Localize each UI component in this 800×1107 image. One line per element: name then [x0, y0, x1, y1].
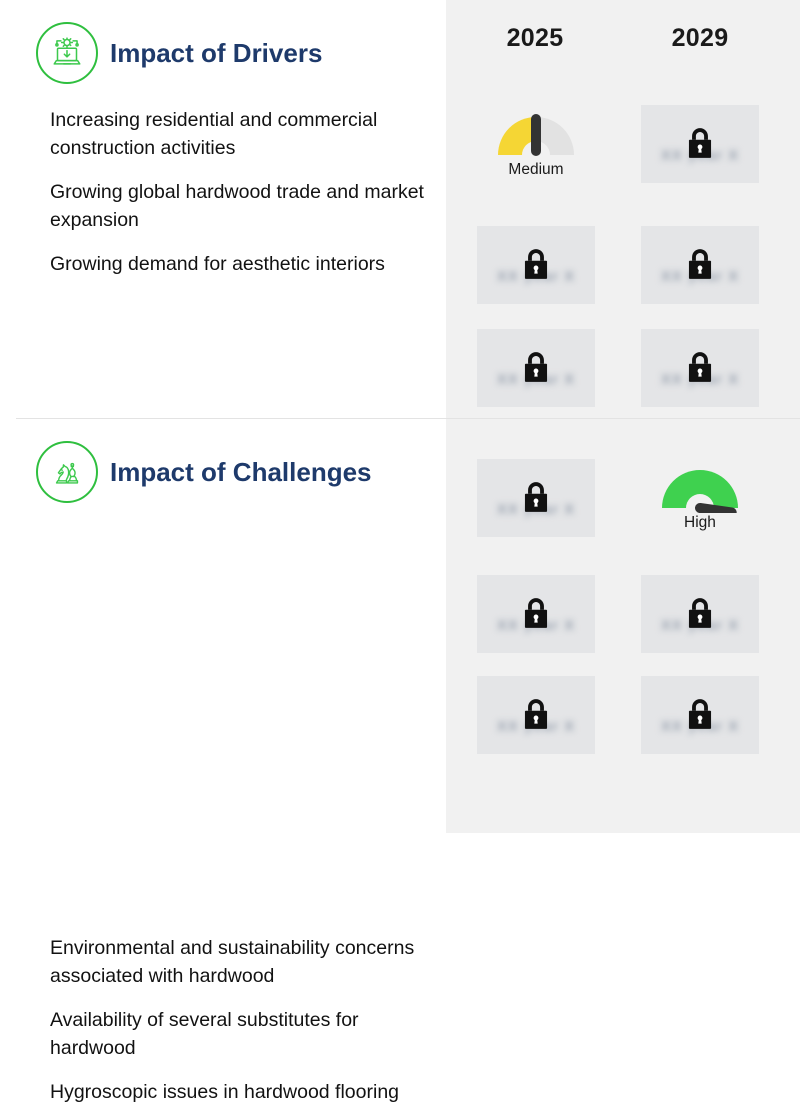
locked-cell-challenges-3-2025[interactable]: XX year X: [477, 676, 595, 754]
driver-item-2: Growing global hardwood trade and market…: [50, 179, 425, 234]
driver-item-1: Increasing residential and commercial co…: [50, 107, 425, 162]
drivers-bullet-list: Increasing residential and commercial co…: [50, 107, 425, 279]
lock-icon: [519, 595, 553, 631]
column-header-2029: 2029: [641, 24, 759, 53]
lock-icon: [519, 696, 553, 732]
lock-icon: [683, 125, 717, 161]
section-challenges: Impact of Challenges Environmental and s…: [0, 419, 446, 833]
lock-icon: [519, 349, 553, 385]
gauge-icon: [658, 461, 742, 513]
locked-cell-drivers-2-2025[interactable]: XX year X: [477, 226, 595, 304]
section-title-challenges: Impact of Challenges: [110, 457, 372, 488]
challenges-bullet-list: Environmental and sustainability concern…: [50, 935, 425, 1107]
challenges-header: Impact of Challenges: [36, 441, 372, 503]
gauge-label-high: High: [684, 514, 716, 532]
locked-cell-challenges-1-2025[interactable]: XX year X: [477, 459, 595, 537]
locked-cell-drivers-2-2029[interactable]: XX year X: [641, 226, 759, 304]
gauge-challenges-1-2029[interactable]: High: [641, 461, 759, 553]
section-drivers: Impact of Drivers Increasing residential…: [0, 0, 446, 418]
gauge-drivers-1-2025[interactable]: Medium: [477, 108, 595, 200]
laptop-gear-download-icon: [36, 22, 98, 84]
locked-cell-drivers-3-2025[interactable]: XX year X: [477, 329, 595, 407]
locked-cell-challenges-2-2029[interactable]: XX year X: [641, 575, 759, 653]
impact-matrix-page: 2025 2029: [0, 0, 800, 833]
locked-cell-challenges-3-2029[interactable]: XX year X: [641, 676, 759, 754]
gauge-icon: [494, 108, 578, 160]
lock-icon: [683, 595, 717, 631]
lock-icon: [519, 246, 553, 282]
lock-icon: [683, 696, 717, 732]
lock-icon: [519, 479, 553, 515]
driver-item-3: Growing demand for aesthetic interiors: [50, 251, 425, 279]
locked-cell-drivers-3-2029[interactable]: XX year X: [641, 329, 759, 407]
challenge-item-1: Environmental and sustainability concern…: [50, 935, 425, 990]
column-header-2025: 2025: [476, 24, 594, 53]
lock-icon: [683, 246, 717, 282]
lock-icon: [683, 349, 717, 385]
challenge-item-3: Hygroscopic issues in hardwood flooring: [50, 1079, 425, 1107]
locked-cell-drivers-1-2029[interactable]: XX year X: [641, 105, 759, 183]
chess-pieces-icon: [36, 441, 98, 503]
section-title-drivers: Impact of Drivers: [110, 38, 322, 69]
drivers-header: Impact of Drivers: [36, 22, 322, 84]
locked-cell-challenges-2-2025[interactable]: XX year X: [477, 575, 595, 653]
gauge-label-medium: Medium: [508, 161, 563, 179]
challenge-item-2: Availability of several substitutes for …: [50, 1007, 425, 1062]
